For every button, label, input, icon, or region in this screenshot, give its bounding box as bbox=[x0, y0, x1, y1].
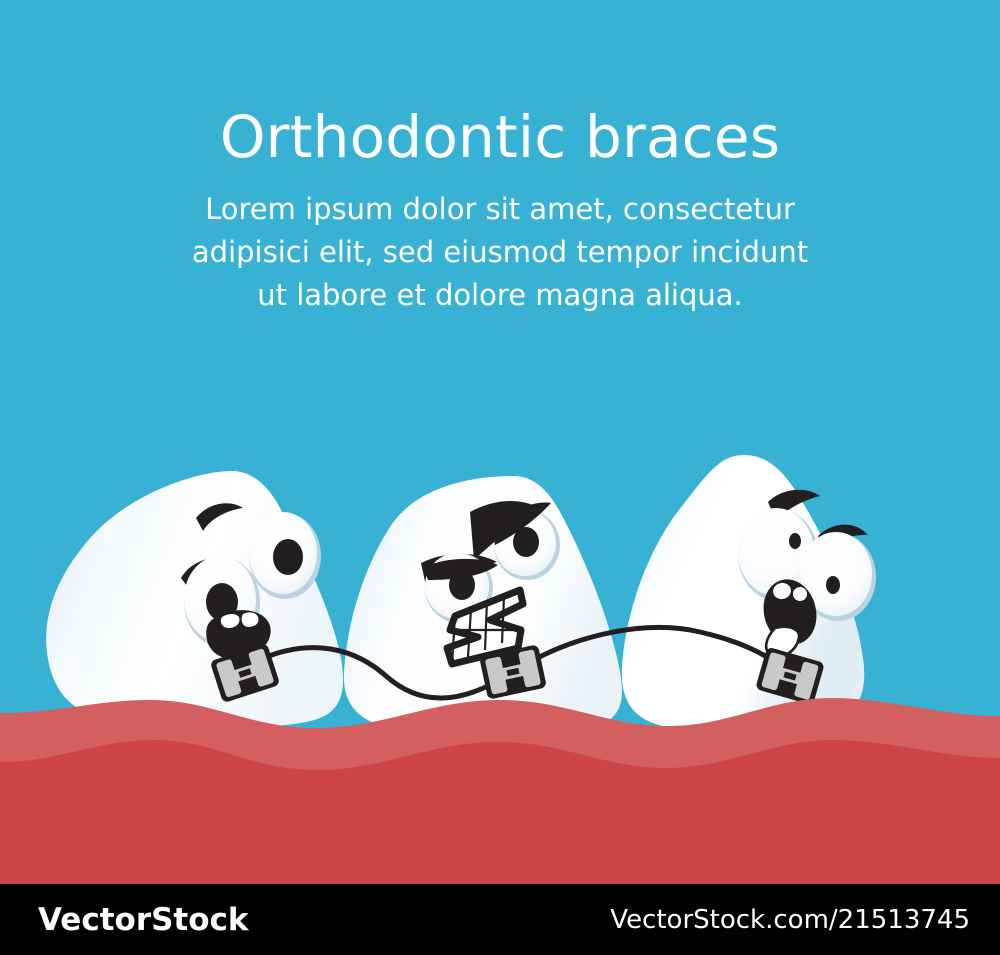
left-tooth bbox=[46, 471, 343, 729]
artboard: Orthodontic braces Lorem ipsum dolor sit… bbox=[0, 0, 1000, 884]
left-tooth-pupil-inner bbox=[273, 539, 303, 575]
right-tooth-pupil-left bbox=[789, 533, 801, 549]
vectorstock-logo: VectorStock bbox=[38, 902, 249, 938]
teeth-braces-illustration bbox=[0, 0, 1000, 884]
middle-tooth-pupil-left bbox=[449, 570, 475, 600]
right-tooth bbox=[622, 455, 876, 731]
vectorstock-url: VectorStock.com/21513745 bbox=[610, 905, 970, 935]
middle-tooth-pupil-right bbox=[513, 527, 539, 557]
gum-lower-layer bbox=[0, 740, 1000, 884]
middle-tooth bbox=[344, 476, 622, 735]
watermark-footer: VectorStock VectorStock.com/21513745 bbox=[0, 884, 1000, 955]
right-tooth-pupil-right bbox=[826, 576, 840, 594]
left-tooth-eye-inner bbox=[249, 512, 321, 599]
poster-canvas: Orthodontic braces Lorem ipsum dolor sit… bbox=[0, 0, 1000, 955]
